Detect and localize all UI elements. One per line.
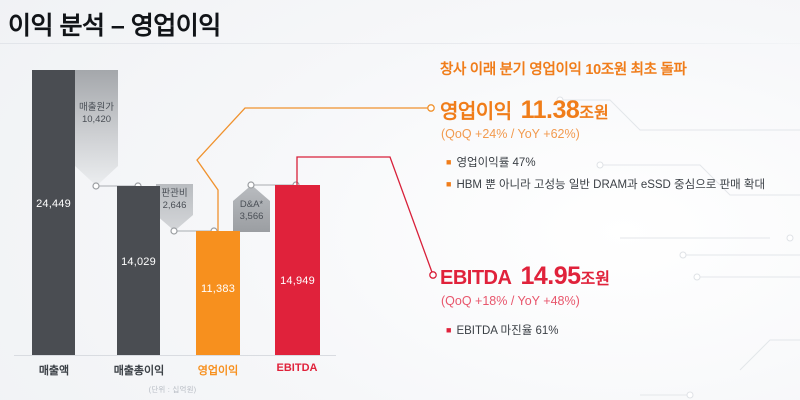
operating-profit-bullets: ■영업이익률 47% ■HBM 뿐 아니라 고성능 일반 DRAM과 eSSD … [446,152,765,197]
bridge-name-cogs: 매출원가 [79,102,114,114]
bar-value-revenue: 24,449 [32,198,75,210]
axis-label-revenue: 매출액 [22,362,86,378]
ebitda-value: 14.95 [520,262,580,290]
bar-operating-profit[interactable]: 11,383 [196,231,240,355]
bullet-text: HBM 뿐 아니라 고성능 일반 DRAM과 eSSD 중심으로 판매 확대 [456,179,765,191]
ebitda-bullets: ■EBITDA 마진율 61% [446,320,559,342]
bullet-icon: ■ [446,325,451,335]
ebitda-suffix: 조원 [581,271,610,288]
operating-profit-growth: (QoQ +24% / YoY +62%) [441,127,580,141]
bar-value-ebitda: 14,949 [275,275,320,287]
bar-value-gross-profit: 14,029 [117,256,160,268]
list-item: ■EBITDA 마진율 61% [446,320,559,342]
ebitda-label: EBITDA [440,267,511,289]
bridge-value-cogs: 10,420 [82,114,111,126]
bridge-value-sga: 2,646 [163,200,187,212]
operating-profit-label: 영업이익 [440,101,512,123]
waterfall-chart: 24,449 14,029 11,383 14,949 매출원가 10,420 … [0,44,345,400]
ebitda-growth: (QoQ +18% / YoY +48%) [441,294,580,308]
list-item: ■영업이익률 47% [446,152,765,174]
leader-endpoint-ebitda [430,272,436,278]
bridge-name-da: D&A* [240,199,263,211]
bullet-icon: ■ [446,157,451,167]
bridge-name-sga: 판관비 [161,188,187,200]
chart-unit-note: (단위 : 십억원) [0,384,345,395]
operating-profit-callout: 영업이익11.38조원 [440,95,609,125]
operating-profit-value: 11.38 [521,96,580,124]
bridge-label-cogs: 매출원가 10,420 [75,102,118,126]
callout-panel: 창사 이래 분기 영업이익 10조원 최초 돌파 영업이익11.38조원 (Qo… [440,0,800,400]
bridge-label-sga: 판관비 2,646 [156,188,193,212]
axis-label-operating-profit: 영업이익 [186,362,250,378]
axis-label-ebitda: EBITDA [265,362,329,374]
slide-root: 이익 분석 – 영업이익 [0,0,800,400]
page-title: 이익 분석 – 영업이익 [8,6,221,42]
operating-profit-suffix: 조원 [579,105,608,122]
bullet-icon: ■ [446,179,451,189]
list-item: ■HBM 뿐 아니라 고성능 일반 DRAM과 eSSD 중심으로 판매 확대 [446,174,765,196]
bar-value-operating-profit: 11,383 [196,283,240,295]
bar-revenue[interactable]: 24,449 [32,70,75,355]
headline-text: 창사 이래 분기 영업이익 10조원 최초 돌파 [440,58,687,79]
bridge-shape-cogs [75,70,118,186]
leader-endpoint-operating-profit [428,105,434,111]
bar-ebitda[interactable]: 14,949 [275,185,320,355]
axis-label-gross-profit: 매출총이익 [102,362,176,378]
bridge-label-da: D&A* 3,566 [233,199,270,223]
bar-gross-profit[interactable]: 14,029 [117,186,160,355]
bridge-value-da: 3,566 [240,211,264,223]
bullet-text: EBITDA 마진율 61% [456,325,558,337]
bullet-text: 영업이익률 47% [456,157,535,169]
ebitda-callout: EBITDA14.95조원 [440,262,610,291]
